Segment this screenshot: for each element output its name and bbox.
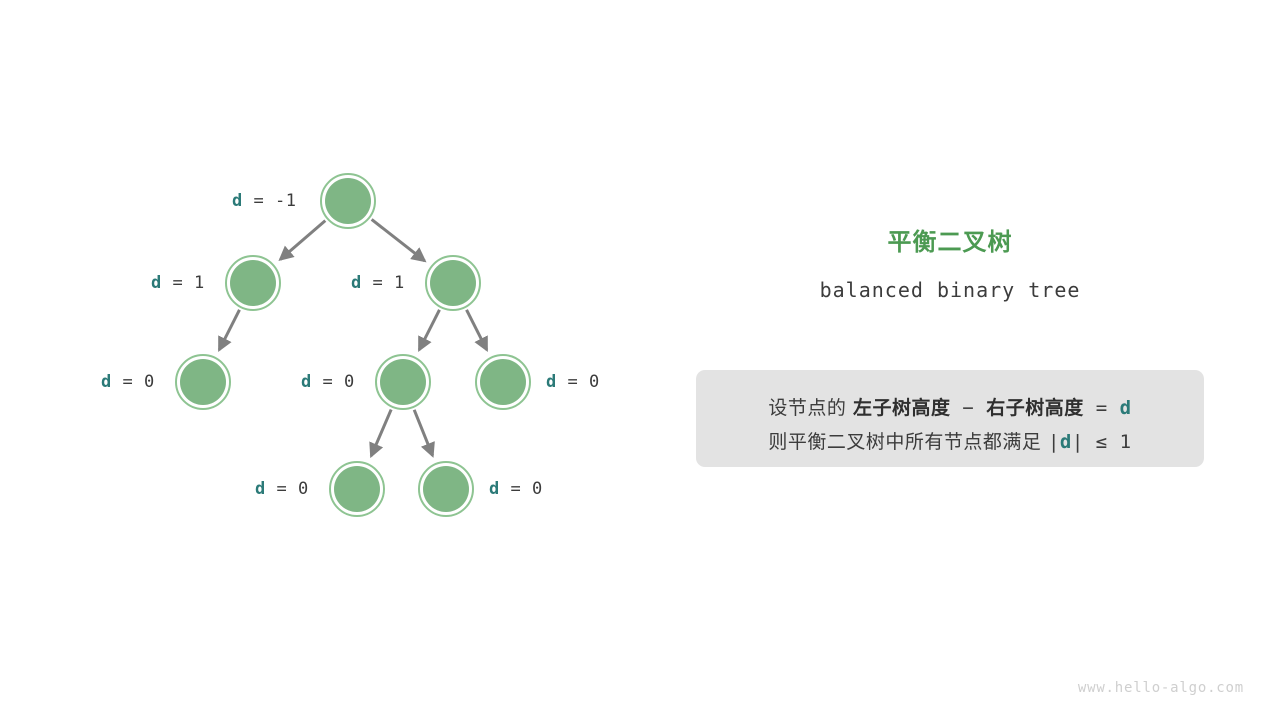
node-balance-label: d = -1 [232, 191, 296, 211]
balance-value: 1 [194, 273, 205, 293]
balance-value: 0 [589, 372, 600, 392]
tree-edge [372, 219, 425, 260]
def-abs-bar-close: | [1072, 431, 1084, 453]
tree-node[interactable] [330, 462, 384, 516]
def-left-subtree-height: 左子树高度 [853, 397, 951, 419]
tree-node-fill [380, 359, 426, 405]
tree-edge [419, 310, 439, 350]
tree-node-fill [334, 466, 380, 512]
tree-edge [280, 221, 325, 260]
balance-var-d: d [301, 372, 312, 392]
node-balance-label: d = 0 [101, 372, 155, 392]
balance-value: 1 [394, 273, 405, 293]
tree-node[interactable] [426, 256, 480, 310]
def-minus-sign: − [950, 397, 986, 419]
def-d-symbol: d [1120, 397, 1132, 419]
tree-edge [467, 310, 487, 350]
def-condition-prefix: 则平衡二叉树中所有节点都满足 [768, 431, 1048, 453]
node-balance-label: d = 0 [546, 372, 600, 392]
balance-var-d: d [232, 191, 243, 211]
tree-nodes [176, 174, 530, 516]
balance-var-d: d [489, 479, 500, 499]
balance-value: 0 [344, 372, 355, 392]
balance-equals: = [312, 372, 344, 392]
definition-line-1: 设节点的 左子树高度 − 右子树高度 = d [696, 393, 1204, 420]
balance-equals: = [557, 372, 589, 392]
tree-edges [219, 219, 487, 455]
balance-equals: = [112, 372, 144, 392]
balance-var-d: d [546, 372, 557, 392]
balance-equals: = [243, 191, 275, 211]
definition-line-2: 则平衡二叉树中所有节点都满足 |d| ≤ 1 [696, 427, 1204, 454]
node-balance-label: d = 1 [351, 273, 405, 293]
tree-node[interactable] [176, 355, 230, 409]
def-text-prefix: 设节点的 [768, 397, 853, 419]
tree-node-fill [480, 359, 526, 405]
tree-node-fill [180, 359, 226, 405]
def-equals-sign: = [1084, 397, 1120, 419]
panel-subtitle: balanced binary tree [696, 278, 1204, 302]
tree-node-fill [325, 178, 371, 224]
node-balance-label: d = 1 [151, 273, 205, 293]
tree-edge [219, 310, 239, 350]
tree-node[interactable] [419, 462, 473, 516]
info-panel: 平衡二叉树 balanced binary tree 设节点的 左子树高度 − … [696, 225, 1204, 302]
page-title: 平衡二叉树 [696, 225, 1204, 259]
balance-var-d: d [351, 273, 362, 293]
tree-node[interactable] [476, 355, 530, 409]
balance-var-d: d [151, 273, 162, 293]
balance-var-d: d [101, 372, 112, 392]
tree-node-fill [423, 466, 469, 512]
def-right-subtree-height: 右子树高度 [986, 397, 1084, 419]
tree-edge [414, 410, 432, 456]
def-abs-bar-open: | [1048, 431, 1060, 453]
tree-node[interactable] [376, 355, 430, 409]
balance-equals: = [500, 479, 532, 499]
balance-value: -1 [275, 191, 296, 211]
tree-node[interactable] [226, 256, 280, 310]
node-balance-label: d = 0 [489, 479, 543, 499]
balance-equals: = [162, 273, 194, 293]
tree-node-fill [230, 260, 276, 306]
def-d-symbol-abs: d [1060, 431, 1072, 453]
definition-box: 设节点的 左子树高度 − 右子树高度 = d 则平衡二叉树中所有节点都满足 |d… [696, 370, 1204, 467]
balance-value: 0 [532, 479, 543, 499]
watermark: www.hello-algo.com [1078, 680, 1244, 696]
balance-value: 0 [144, 372, 155, 392]
tree-node-fill [430, 260, 476, 306]
balance-var-d: d [255, 479, 266, 499]
def-condition-value: ≤ 1 [1084, 431, 1132, 453]
balance-value: 0 [298, 479, 309, 499]
tree-node[interactable] [321, 174, 375, 228]
balance-equals: = [266, 479, 298, 499]
tree-edge [371, 410, 391, 456]
node-balance-label: d = 0 [255, 479, 309, 499]
diagram-canvas: d = -1d = 1d = 1d = 0d = 0d = 0d = 0d = … [0, 0, 1280, 720]
balance-equals: = [362, 273, 394, 293]
binary-tree-graphic [0, 0, 1280, 720]
node-balance-label: d = 0 [301, 372, 355, 392]
